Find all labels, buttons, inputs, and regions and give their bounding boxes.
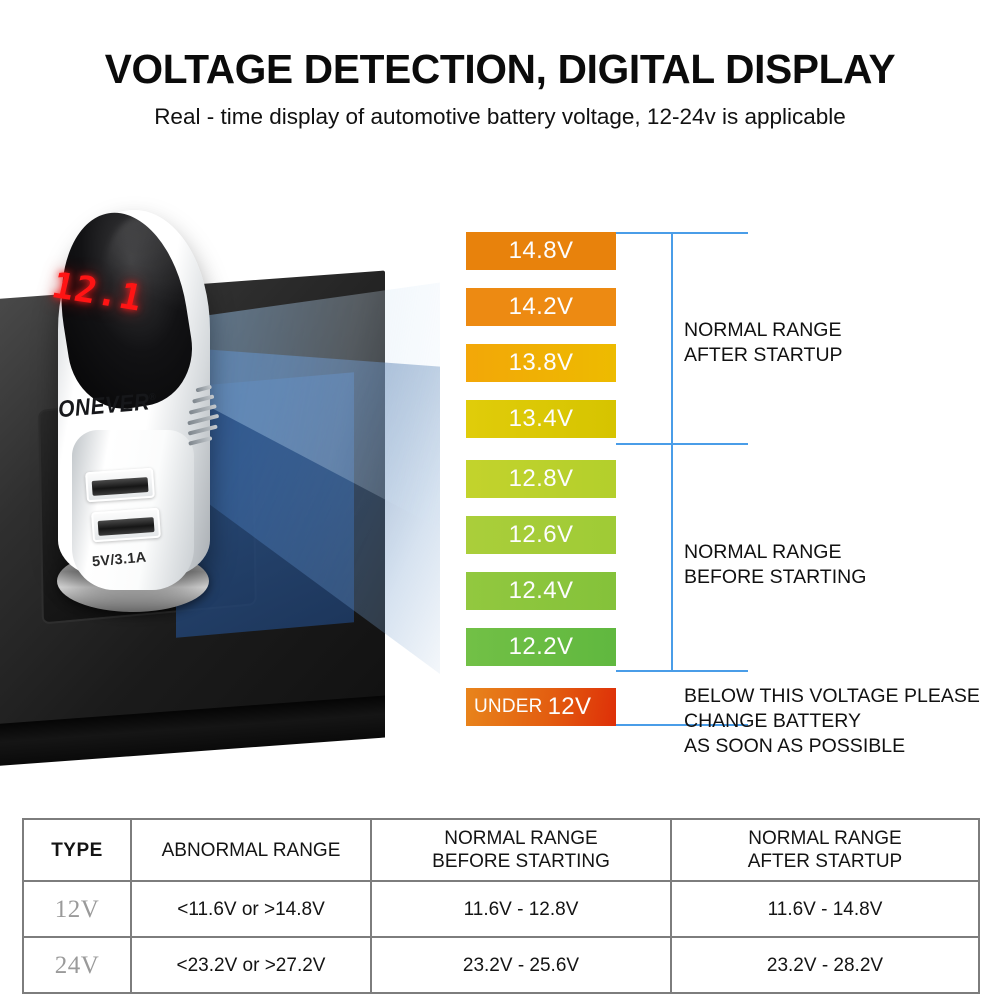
voltage-bar-label: 13.8V bbox=[509, 349, 574, 377]
voltage-bar: 14.8V bbox=[466, 232, 616, 270]
page-subtitle: Real - time display of automotive batter… bbox=[0, 104, 1000, 130]
range-label-line: BEFORE STARTING bbox=[684, 565, 866, 590]
page-title: VOLTAGE DETECTION, DIGITAL DISPLAY bbox=[5, 46, 995, 93]
table-row: 24V <23.2V or >27.2V 23.2V - 25.6V 23.2V… bbox=[23, 937, 979, 993]
voltage-bar-label: 12.4V bbox=[509, 577, 574, 605]
table-header-before-starting: NORMAL RANGE BEFORE STARTING bbox=[371, 819, 671, 881]
table-header-line: NORMAL RANGE bbox=[672, 827, 978, 850]
range-label-below: BELOW THIS VOLTAGE PLEASE CHANGE BATTERY… bbox=[684, 684, 980, 759]
range-label-line: CHANGE BATTERY bbox=[684, 709, 980, 734]
voltage-bar: 12.8V bbox=[466, 460, 616, 498]
usb-port-top bbox=[85, 468, 155, 503]
table-cell-abnormal: <23.2V or >27.2V bbox=[131, 937, 371, 993]
range-label-line: AFTER STARTUP bbox=[684, 343, 843, 368]
voltage-bar-label: 12V bbox=[548, 693, 592, 721]
range-label-line: AS SOON AS POSSIBLE bbox=[684, 734, 980, 759]
table-cell-before: 23.2V - 25.6V bbox=[371, 937, 671, 993]
table-header-line: AFTER STARTUP bbox=[672, 850, 978, 873]
table-header-abnormal: ABNORMAL RANGE bbox=[131, 819, 371, 881]
table-header-type: TYPE bbox=[23, 819, 131, 881]
table-header-after-startup: NORMAL RANGE AFTER STARTUP bbox=[671, 819, 979, 881]
bracket-line-top bbox=[616, 232, 748, 234]
voltage-bar-label: 13.4V bbox=[509, 405, 574, 433]
voltage-bar: 13.4V bbox=[466, 400, 616, 438]
voltage-bar-label: 14.8V bbox=[509, 237, 574, 265]
voltage-bar-under: UNDER12V bbox=[466, 688, 616, 726]
bracket-line-vertical-before bbox=[671, 443, 673, 671]
bracket-line-mid2 bbox=[616, 670, 748, 672]
range-label-line: BELOW THIS VOLTAGE PLEASE bbox=[684, 684, 980, 709]
table-header-line: NORMAL RANGE bbox=[372, 827, 670, 850]
voltage-bar-label: 12.2V bbox=[509, 633, 574, 661]
product-photo: 12.1 ONEVER® 5V/3.1A bbox=[0, 180, 440, 820]
voltage-bar-label-prefix: UNDER bbox=[474, 696, 543, 718]
range-label-line: NORMAL RANGE bbox=[684, 540, 866, 565]
voltage-bar-label: 14.2V bbox=[509, 293, 574, 321]
voltage-bar: 12.6V bbox=[466, 516, 616, 554]
table-cell-type: 24V bbox=[23, 937, 131, 993]
registered-mark-icon: ® bbox=[149, 391, 157, 403]
range-label-line: NORMAL RANGE bbox=[684, 318, 843, 343]
table-cell-before: 11.6V - 12.8V bbox=[371, 881, 671, 937]
table-cell-after: 23.2V - 28.2V bbox=[671, 937, 979, 993]
product-infographic: VOLTAGE DETECTION, DIGITAL DISPLAY Real … bbox=[0, 0, 1000, 1000]
voltage-bar: 12.4V bbox=[466, 572, 616, 610]
voltage-bar: 14.2V bbox=[466, 288, 616, 326]
bracket-line-vertical-after bbox=[671, 232, 673, 444]
table-header-row: TYPE ABNORMAL RANGE NORMAL RANGE BEFORE … bbox=[23, 819, 979, 881]
voltage-bar-label: 12.6V bbox=[509, 521, 574, 549]
voltage-bar: 13.8V bbox=[466, 344, 616, 382]
usb-port-bottom bbox=[91, 508, 161, 543]
voltage-bar: 12.2V bbox=[466, 628, 616, 666]
table-cell-after: 11.6V - 14.8V bbox=[671, 881, 979, 937]
voltage-bar-label: 12.8V bbox=[509, 465, 574, 493]
bracket-line-mid1 bbox=[616, 443, 748, 445]
range-label-after-startup: NORMAL RANGE AFTER STARTUP bbox=[684, 318, 843, 368]
table-cell-type: 12V bbox=[23, 881, 131, 937]
specification-table: TYPE ABNORMAL RANGE NORMAL RANGE BEFORE … bbox=[22, 818, 980, 994]
table-header-line: BEFORE STARTING bbox=[372, 850, 670, 873]
table-cell-abnormal: <11.6V or >14.8V bbox=[131, 881, 371, 937]
table-row: 12V <11.6V or >14.8V 11.6V - 12.8V 11.6V… bbox=[23, 881, 979, 937]
range-label-before-starting: NORMAL RANGE BEFORE STARTING bbox=[684, 540, 866, 590]
